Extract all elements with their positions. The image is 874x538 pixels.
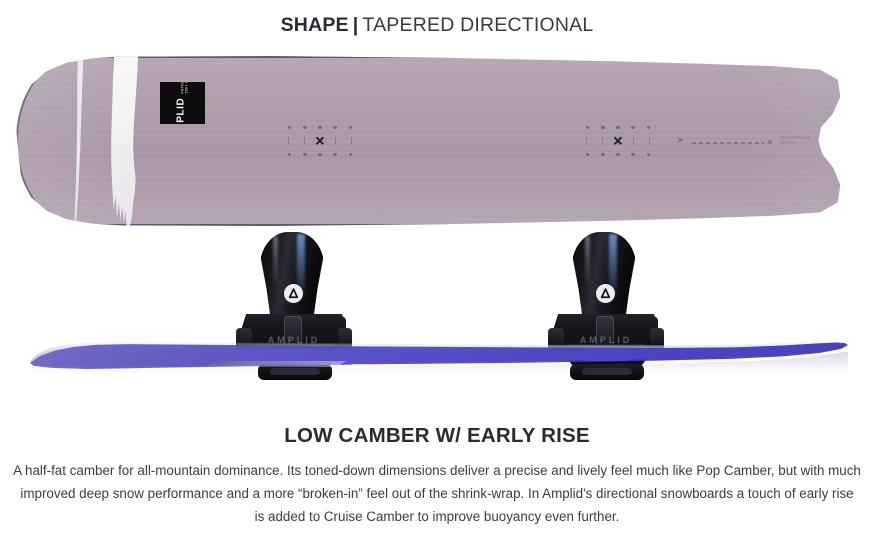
deck-brush-streak-wide (102, 56, 144, 226)
insert-hole (349, 153, 352, 156)
shape-label: SHAPE (281, 14, 349, 36)
description-line: improved deep snow performance and a mor… (0, 482, 874, 505)
insert-hole (616, 153, 619, 156)
snowboard-camber-profile (30, 340, 848, 386)
deck-brand-name: AMPLID (176, 98, 186, 124)
highback-glint-secondary (585, 236, 590, 286)
insert-tick (649, 138, 650, 145)
insert-hole (303, 126, 306, 129)
insert-row-bottom (586, 153, 650, 156)
insert-row-bottom (288, 153, 352, 156)
snowboard-deck-image: AMPLID PSYCHONAUT 159 / 2019 (16, 56, 858, 226)
insert-hole (647, 126, 650, 129)
insert-tick (304, 138, 305, 145)
tail-arrow-icon: ➤ (676, 136, 684, 146)
insert-row-top (586, 126, 650, 129)
insert-tick (633, 138, 634, 145)
insert-hole (333, 153, 336, 156)
insert-hole (349, 126, 352, 129)
insert-hole (333, 126, 336, 129)
tail-dash-line (692, 142, 764, 144)
insert-tick (288, 138, 289, 145)
product-spec-panel: SHAPE|TAPERED DIRECTIONAL AMPLID PSYCHON… (0, 0, 874, 538)
insert-row-top (288, 126, 352, 129)
tail-spec-print: ➤ PSYCHONAUT SERIES (676, 134, 826, 150)
insert-hole (647, 153, 650, 156)
amplid-logo-icon (596, 284, 615, 303)
stance-center-marker: ✕ (613, 135, 624, 148)
deck-brush-streak-thin (74, 56, 85, 226)
tail-dot-marker (768, 140, 772, 144)
snowboard-deck-outline: AMPLID PSYCHONAUT 159 / 2019 (16, 56, 858, 226)
insert-hole (616, 126, 619, 129)
insert-hole (631, 126, 634, 129)
insert-tick (602, 138, 603, 145)
shape-heading: SHAPE|TAPERED DIRECTIONAL (0, 14, 874, 37)
shape-value: TAPERED DIRECTIONAL (362, 14, 593, 36)
stance-center-marker: ✕ (315, 135, 326, 148)
profile-graphic-streak (204, 361, 346, 367)
insert-pack-front: ✕ (288, 126, 352, 156)
camber-title: LOW CAMBER W/ EARLY RISE (0, 424, 874, 448)
insert-tick (335, 138, 336, 145)
deck-brand-label-rotated: AMPLID PSYCHONAUT 159 / 2019 (176, 82, 189, 124)
description-line: is added to Cruise Camber to improve buo… (0, 505, 874, 528)
insert-hole (601, 153, 604, 156)
shape-divider: | (349, 14, 363, 37)
insert-hole (601, 126, 604, 129)
insert-tick (586, 138, 587, 145)
insert-pack-back: ✕ (586, 126, 650, 156)
tail-spec-text: PSYCHONAUT SERIES (780, 135, 826, 146)
insert-tick (351, 138, 352, 145)
amplid-logo-icon (284, 284, 303, 303)
insert-hole (631, 153, 634, 156)
highback-glint-secondary (273, 236, 278, 286)
insert-hole (318, 126, 321, 129)
insert-hole (303, 153, 306, 156)
insert-hole (288, 126, 291, 129)
deck-brand-label: AMPLID PSYCHONAUT 159 / 2019 (160, 82, 205, 124)
insert-hole (586, 126, 589, 129)
insert-hole (288, 153, 291, 156)
snowboard-profile-image: AMPLID AMPLID (0, 232, 874, 400)
camber-description: A half-fat camber for all-mountain domin… (0, 459, 874, 528)
description-line: A half-fat camber for all-mountain domin… (0, 459, 874, 482)
profile-graphic-streak-secondary (345, 364, 434, 368)
deck-brand-tagline: PSYCHONAUT 159 / 2019 (180, 82, 189, 94)
insert-hole (318, 153, 321, 156)
insert-hole (586, 153, 589, 156)
